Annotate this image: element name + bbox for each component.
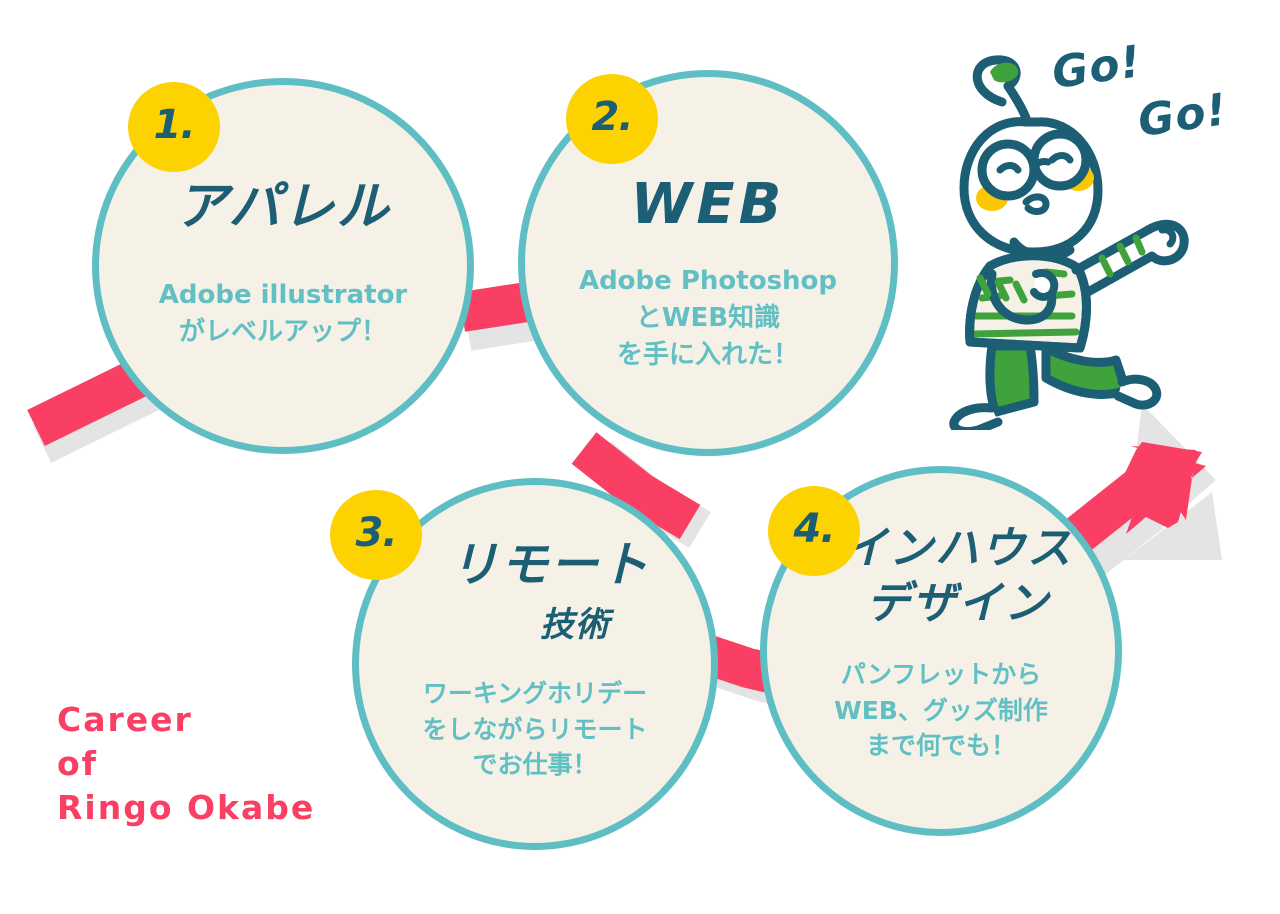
step-1-number-badge: 1. (128, 82, 220, 172)
leg-left (990, 346, 1034, 412)
shoe-right (1118, 379, 1157, 405)
step-4-body: パンフレットから WEB、グッズ制作 まで何でも！ (834, 657, 1048, 764)
step-3-body: ワーキングホリデー をしながらリモート でお仕事！ (422, 676, 647, 783)
step-4-title: インハウス デザイン (843, 521, 1073, 631)
step-3-title: リモート (450, 541, 650, 589)
leg-right (1046, 348, 1126, 394)
shoe-left (954, 408, 998, 430)
step-3-subtitle: 技術 (540, 597, 610, 646)
step-2-title: WEB (631, 177, 786, 233)
glasses-left-lens (982, 144, 1034, 196)
step-3-number-badge: 3. (330, 490, 422, 580)
step-2-number-badge: 2. (566, 74, 658, 164)
step-4-number-badge: 4. (768, 486, 860, 576)
career-caption: Career of Ringo Okabe (57, 698, 315, 830)
step-2-body: Adobe Photoshop とWEB知識 を手に入れた！ (579, 263, 837, 374)
step-1-title: アパレル (176, 181, 391, 233)
infographic-canvas: アパレル Adobe illustrator がレベルアップ！ 1. WEB A… (0, 0, 1280, 914)
hand-left (1034, 273, 1054, 297)
step-1-body: Adobe illustrator がレベルアップ！ (159, 277, 408, 351)
